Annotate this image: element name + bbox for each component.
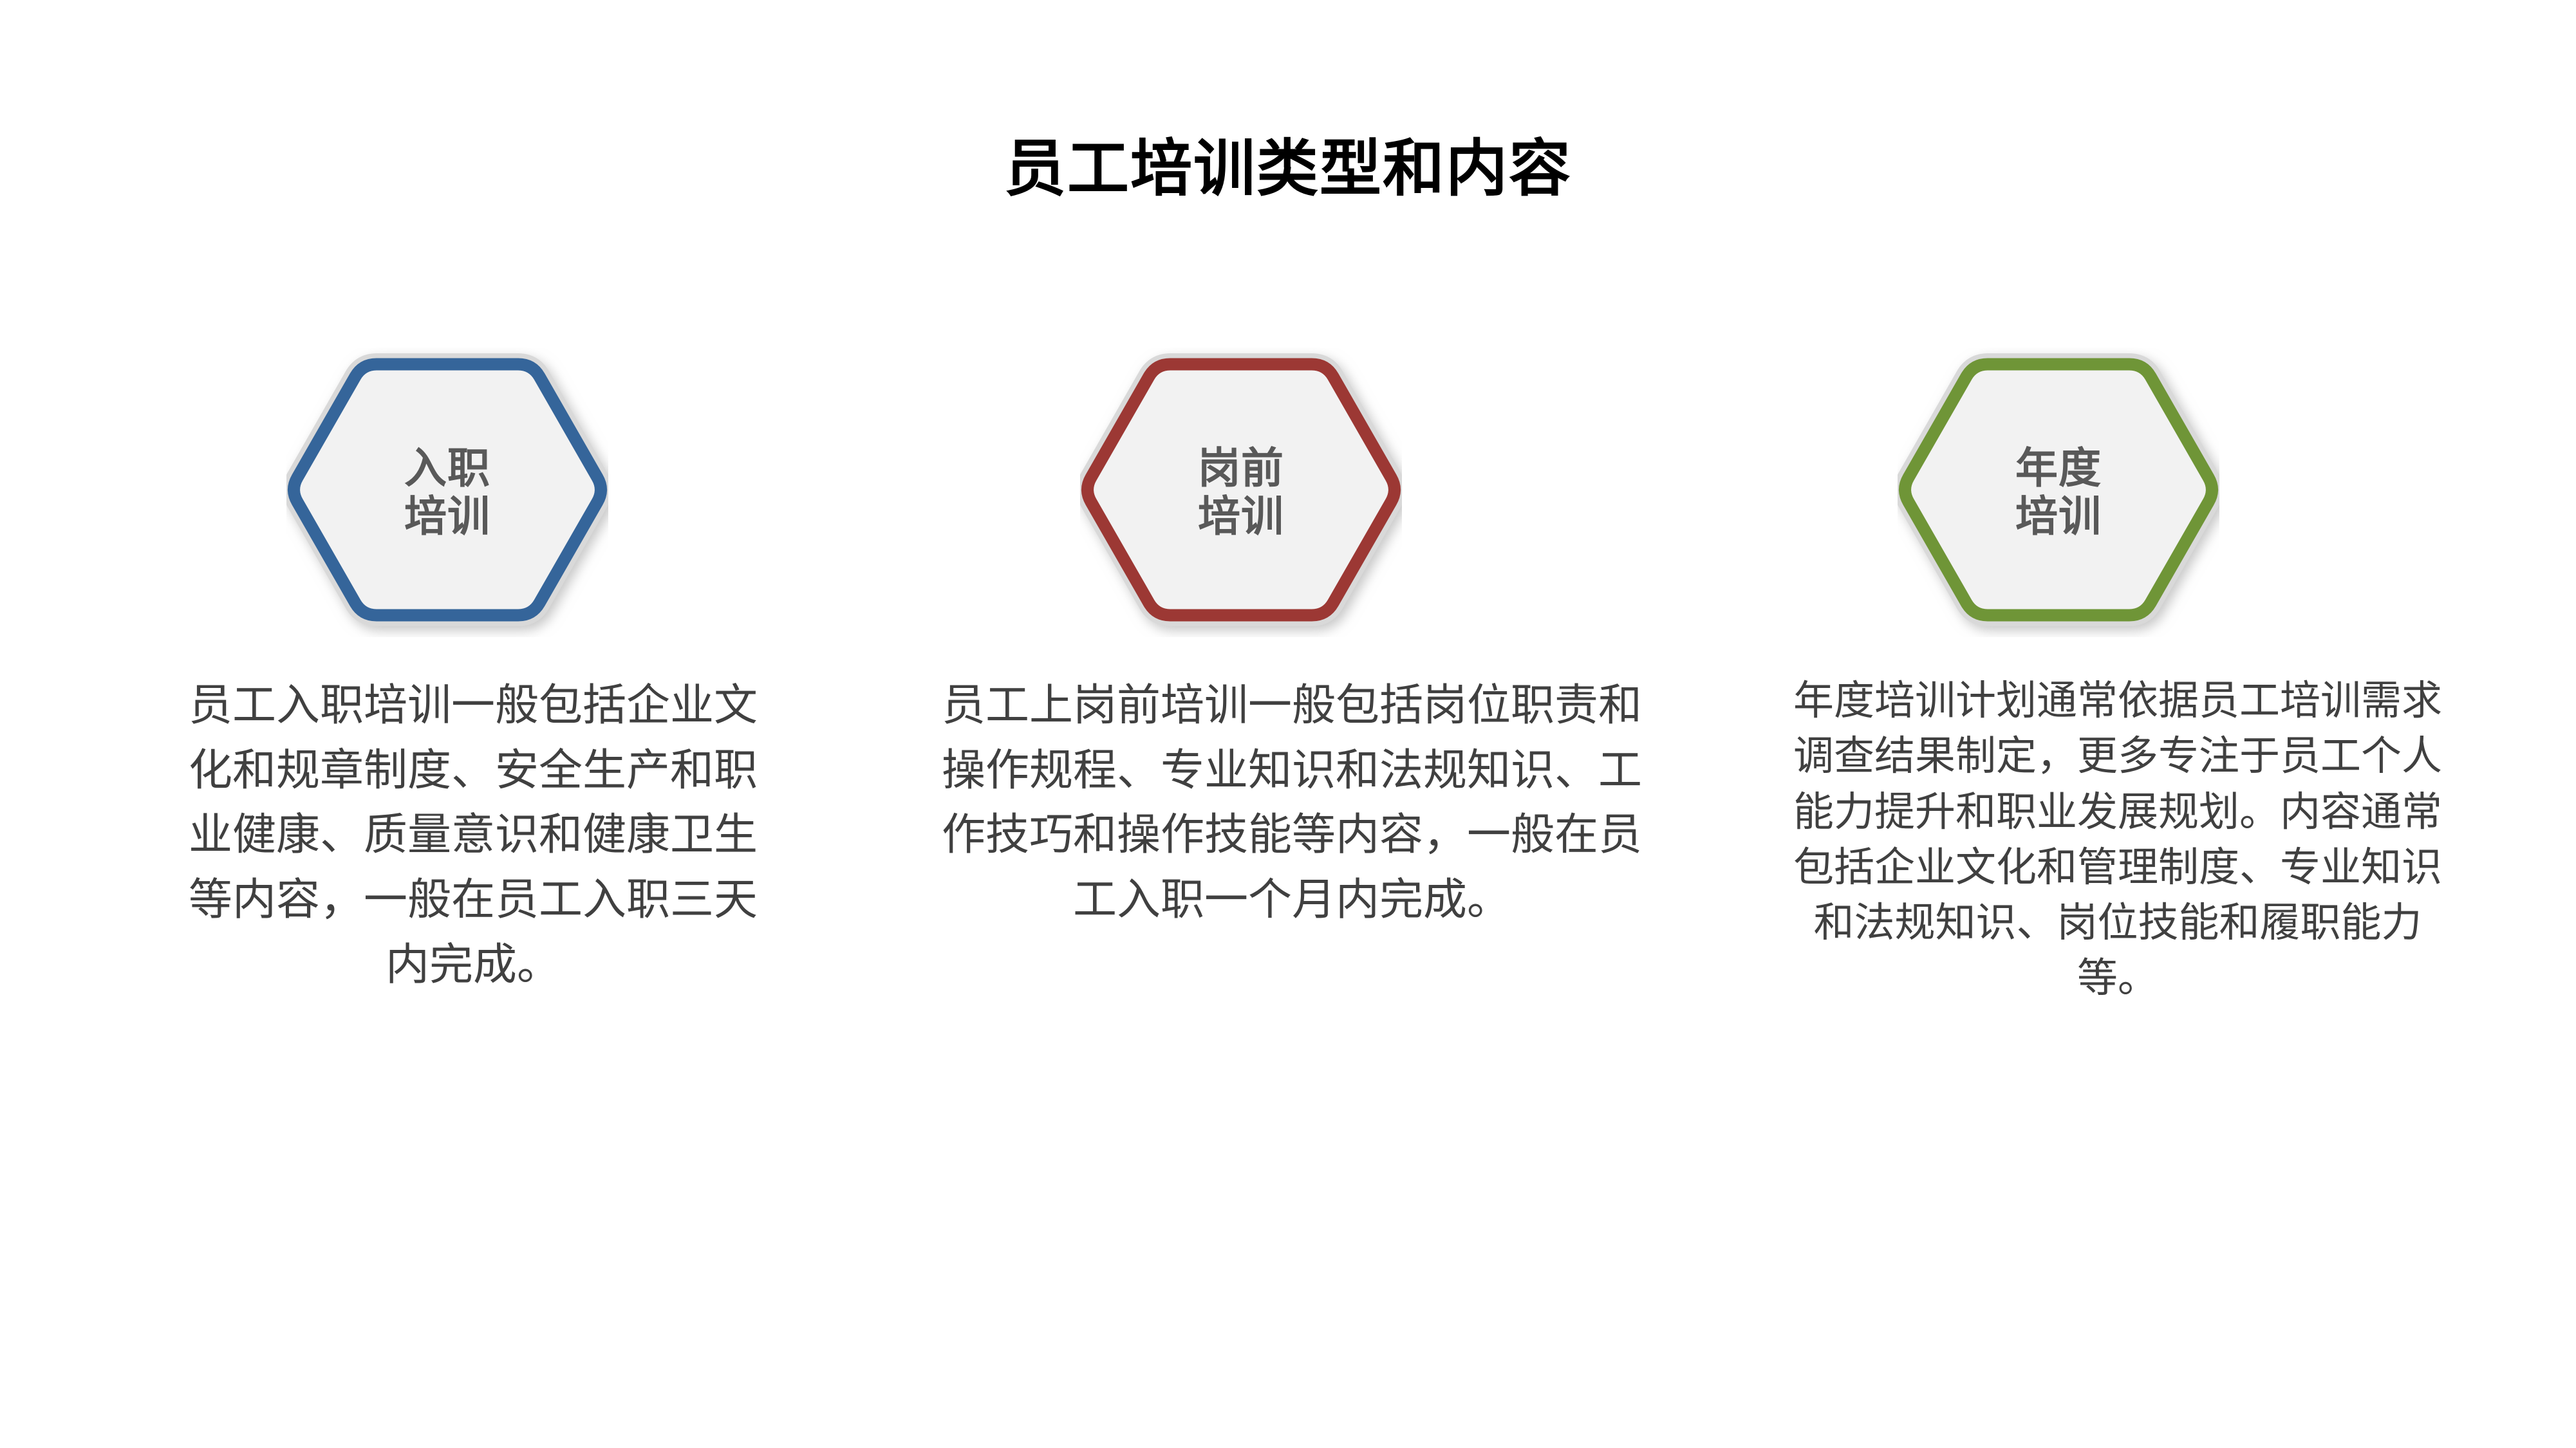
description-pre-post: 员工上岗前培训一般包括岗位职责和操作规程、专业知识和法规知识、工作技巧和操作技能… xyxy=(941,673,1643,933)
hexagon-badge-pre-post[interactable]: 岗前 培训 xyxy=(1080,348,1402,637)
description-annual: 年度培训计划通常依据员工培训需求调查结果制定，更多专注于员工个人能力提升和职业发… xyxy=(1777,673,2459,1007)
hexagon-icon xyxy=(1898,348,2219,637)
training-type-columns: 入职 培训 员工入职培训一般包括企业文化和规章制度、安全生产和职业健康、质量意识… xyxy=(0,0,2576,1448)
hexagon-badge-onboarding[interactable]: 入职 培训 xyxy=(286,348,608,637)
hexagon-icon xyxy=(286,348,608,637)
hexagon-icon xyxy=(1080,348,1402,637)
hexagon-badge-annual[interactable]: 年度 培训 xyxy=(1898,348,2219,637)
description-onboarding: 员工入职培训一般包括企业文化和规章制度、安全生产和职业健康、质量意识和健康卫生等… xyxy=(183,673,763,997)
